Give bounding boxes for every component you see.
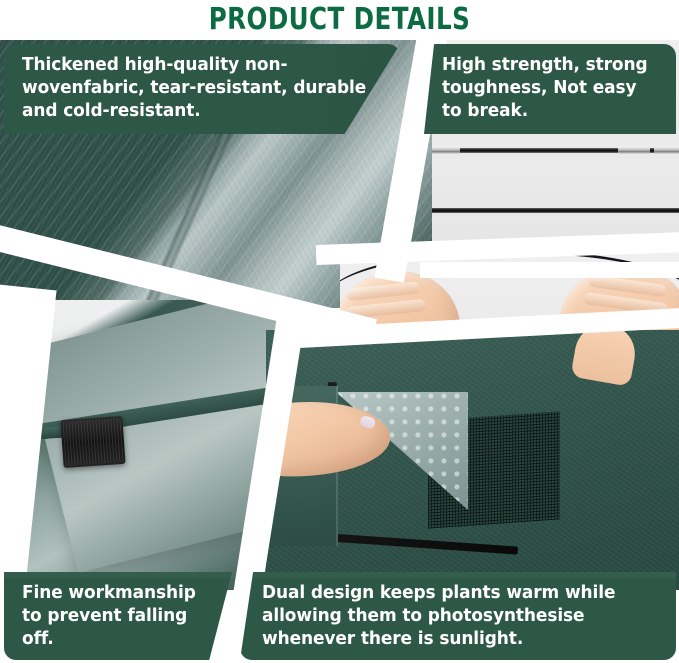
page-title: PRODUCT DETAILS bbox=[209, 5, 471, 35]
photo-dual-design-window bbox=[266, 330, 679, 590]
caption-bottom-left: Fine workmanship to prevent falling off. bbox=[4, 572, 232, 660]
title-bar: PRODUCT DETAILS bbox=[0, 0, 679, 40]
rod-connector-sleeve bbox=[618, 146, 650, 154]
caption-top-left-text: Thickened high-quality non-wovenfabric, … bbox=[22, 54, 375, 122]
fingernail bbox=[359, 415, 377, 430]
rod-connector-sleeve bbox=[654, 146, 679, 154]
product-details-infographic: PRODUCT DETAILS bbox=[0, 0, 679, 663]
straight-black-rod bbox=[432, 208, 679, 213]
caption-bottom-right-text: Dual design keeps plants warm while allo… bbox=[262, 582, 650, 650]
rod-connector-sleeve bbox=[432, 146, 460, 154]
caption-bottom-right: Dual design keeps plants warm while allo… bbox=[240, 572, 676, 660]
black-reinforcement-strap bbox=[60, 416, 125, 468]
forearm bbox=[570, 330, 639, 387]
caption-top-left: Thickened high-quality non-wovenfabric, … bbox=[4, 44, 400, 134]
caption-top-right: High strength, strong toughness, Not eas… bbox=[424, 44, 676, 134]
divider-top-right bbox=[420, 262, 679, 278]
knuckle bbox=[346, 281, 421, 301]
caption-bottom-left-text: Fine workmanship to prevent falling off. bbox=[22, 582, 212, 650]
caption-top-right-text: High strength, strong toughness, Not eas… bbox=[442, 54, 655, 122]
